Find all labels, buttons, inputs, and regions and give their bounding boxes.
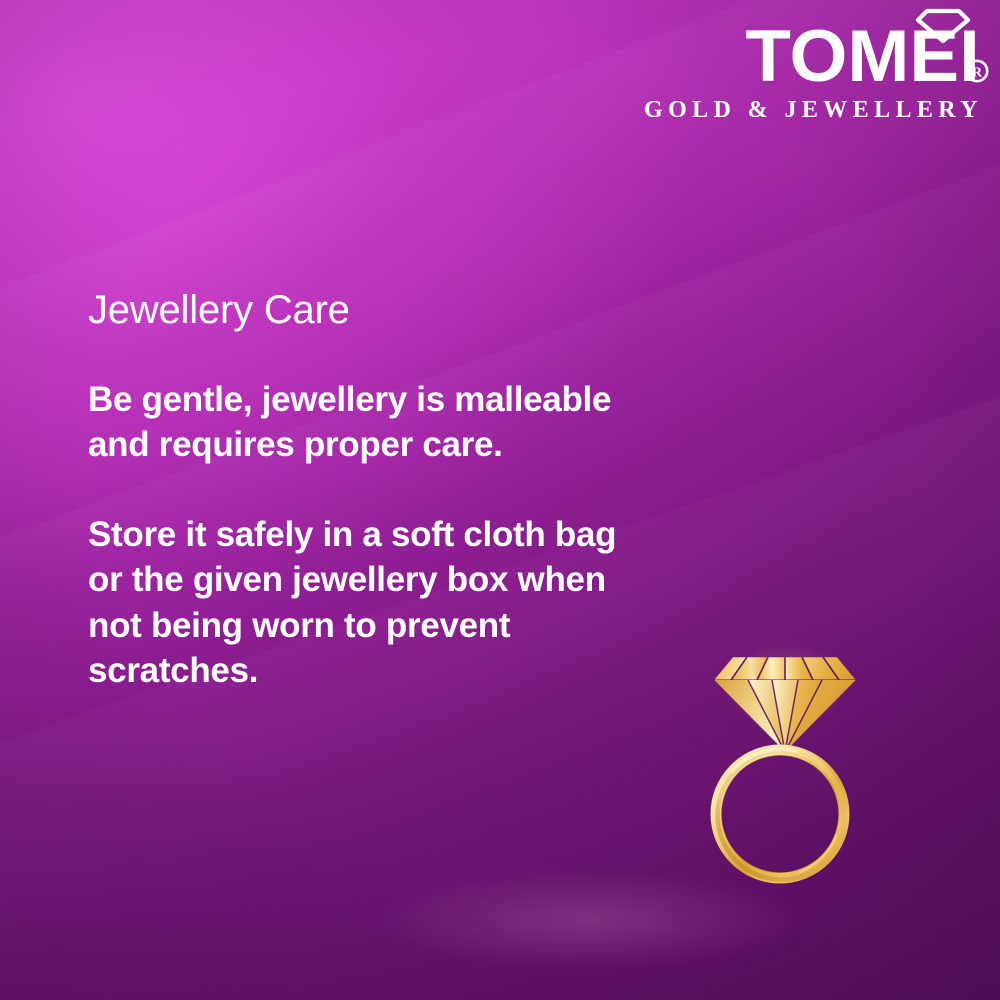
brand-tagline: GOLD & JEWELLERY	[644, 97, 984, 124]
brand-wordmark: TOMEI	[745, 23, 984, 90]
registered-trademark-icon: R	[964, 58, 990, 84]
care-paragraph-1: Be gentle, jewellery is malleable and re…	[88, 377, 708, 468]
tomei-logo: TOMEI R GOLD & JEWELLERY	[644, 6, 984, 124]
page-title: Jewellery Care	[88, 288, 708, 333]
care-paragraph-2: Store it safely in a soft cloth bag or t…	[88, 512, 708, 694]
gold-ring-band	[715, 749, 846, 880]
diamond-ring-illustration	[700, 640, 870, 900]
logo-wordmark-row: TOMEI R	[644, 6, 984, 90]
copy-block: Jewellery Care Be gentle, jewellery is m…	[88, 288, 708, 694]
poster-canvas: TOMEI R GOLD & JEWELLERY Jewellery Care …	[0, 0, 1000, 1000]
svg-text:R: R	[972, 65, 983, 80]
